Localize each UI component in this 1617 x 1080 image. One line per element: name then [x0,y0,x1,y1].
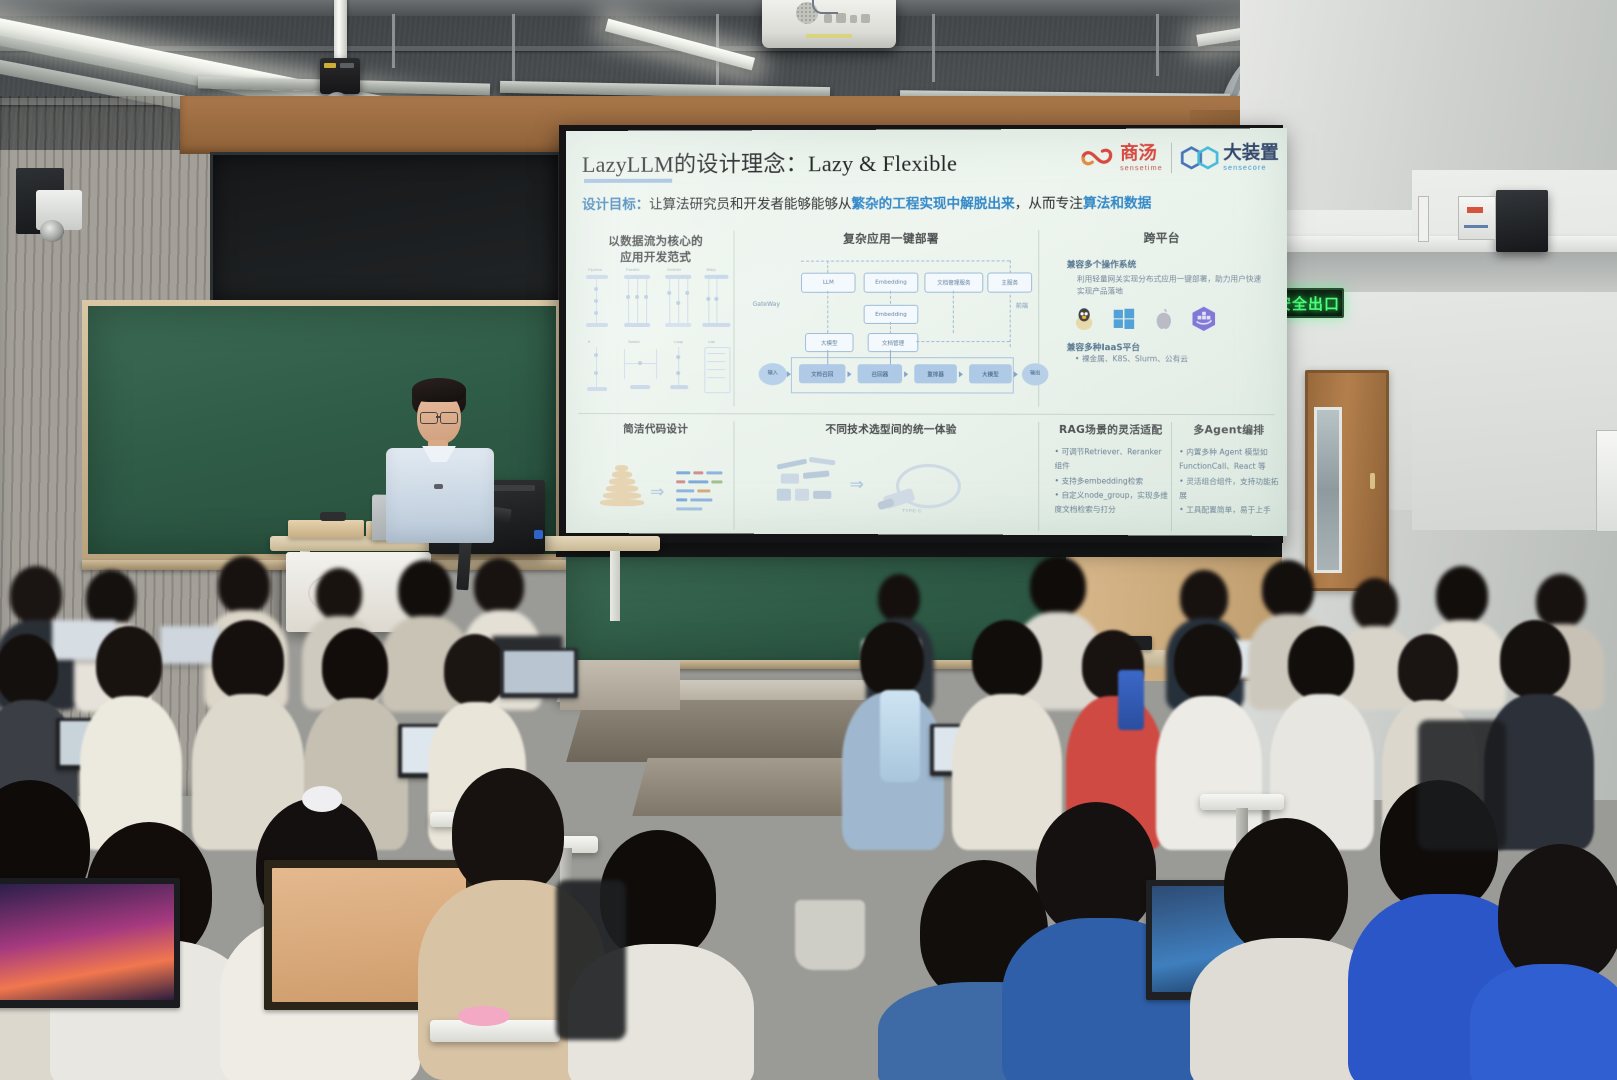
thumb-label: Warp [706,267,715,272]
panel-agent-heading: 多Agent编排 [1175,422,1283,437]
xp-bullet-2: • 裸金属、K8S、Slurm、公有云 [1067,353,1261,365]
agent-bullet: • 灵活组合组件，支持功能拓展 [1179,474,1283,503]
slide-logos: 商汤 sensetime 大装置 sensecore [1079,142,1279,173]
presenter-hair-top [412,378,466,402]
recessed-ceiling-strip [1262,252,1617,292]
xp-subheading-1: 兼容多个操作系统 [1067,258,1261,270]
ceiling-hanger [932,14,935,82]
simple-code-illustration: ⇒ [584,455,730,516]
waste-basket [795,900,865,970]
wall-electrical-panel [1596,430,1617,532]
agent-bullet: • 内置多种 Agent 模型如 FunctionCall、React 等 [1179,445,1283,474]
xp-body-1: 利用轻量网关实现分布式应用一键部署，助力用户快速实现产品落地 [1067,273,1261,297]
glasses-left-lens [420,412,438,424]
panel-rag: RAG场景的灵活适配 • 可调节Retriever、Reranker 组件 • … [1050,422,1172,532]
linux-tux-icon [1071,306,1098,332]
lapel-microphone [434,484,443,489]
rag-bullet-text: 可调节Retriever、Reranker 组件 [1055,447,1162,471]
panel-dataflow: 以数据流为核心的 应用开发范式 Pipeline Parallel Divert… [578,231,735,407]
agent-bullet: • 工具配置简单，易于上手 [1179,503,1283,518]
flow-end: 输出 [1022,363,1048,385]
deploy-node: Embedding [864,305,919,324]
xp-subheading-2: 兼容多种IaaS平台 [1067,341,1261,353]
rag-bullet: • 可调节Retriever、Reranker 组件 [1055,445,1171,474]
deploy-node: 主服务 [987,272,1032,292]
camera-mount-pole [334,0,347,62]
ceiling-hanger [392,14,395,68]
sensetime-en-label: sensetime [1120,165,1163,172]
xp-bullet-2-text: 裸金属、K8S、Slurm、公有云 [1082,354,1188,363]
goal-highlight-2: 算法和数据 [1083,195,1151,210]
wall-bracket [1418,196,1429,242]
goal-text-2: ，从而专注 [1015,196,1083,211]
glasses-right-lens [440,412,458,424]
water-bottle [880,690,920,782]
presenter-shirt [386,448,494,543]
panel-agent: 多Agent编排 • 内置多种 Agent 模型如 FunctionCall、R… [1175,422,1283,532]
panel-dataflow-heading-2: 应用开发范式 [578,249,733,265]
ceiling-hanger [1156,14,1159,76]
thumb-label: Loop [674,339,683,344]
infinity-icon [1079,147,1116,169]
backpack [556,880,626,1040]
blackboard-upper [210,152,561,303]
flow-node: 大模型 [969,364,1012,383]
thumb-label: If [588,339,590,344]
panel-unified-experience: 不同技术选型间的统一体验 ⇒ TYPE-C [745,421,1040,531]
os-icon-row [1067,306,1261,332]
agent-bullet-text: 工具配置简单，易于上手 [1186,505,1271,514]
cable-connector [534,530,543,539]
rag-bullet: • 自定义node_group，实现多维度文档检索与打分 [1055,488,1171,517]
thumb-label: Parallel [626,267,639,272]
panel-unified-heading: 不同技术选型间的统一体验 [745,421,1039,437]
panel-rag-heading: RAG场景的灵活适配 [1050,422,1171,437]
unified-experience-illustration: ⇒ TYPE-C [775,456,1008,519]
pink-object [458,1006,510,1026]
hair-scrunchie [302,786,342,812]
sensetime-logo: 商汤 sensetime [1079,144,1163,172]
panel-dataflow-heading-1: 以数据流为核心的 [578,233,733,249]
title-underline [584,179,672,183]
flow-node: 重排器 [914,364,957,383]
thumb-label: Diverter [667,267,681,272]
deploy-frontend-label: 前端 [1016,301,1028,310]
hexagon-pair-icon [1180,146,1219,170]
cardboard-box [288,520,364,538]
goal-highlight-1: 繁杂的工程实现中解脱出来 [852,196,1015,212]
windows-icon [1111,306,1138,332]
docker-icon [1190,306,1217,332]
deploy-diagram: GateWay 前端 LLM Embedding 文档管理服务 主服务 Embe… [745,252,1039,403]
slide-title: LazyLLM的设计理念：Lazy & Flexible [582,146,957,179]
presenter [390,378,490,543]
glasses-bridge [436,416,440,418]
remote-control [320,512,346,521]
flow-start: 输入 [759,363,787,385]
slide-goal-line: 设计目标：让算法研究员和开发者能够能够从繁杂的工程实现中解脱出来，从而专注算法和… [582,191,1151,213]
ceiling-projector [762,0,896,48]
sensetime-cn-label: 商汤 [1120,144,1163,162]
wall-control-plate [1458,196,1496,240]
blue-bottle [1118,670,1144,730]
door-handle[interactable] [1370,473,1375,489]
rag-bullet-text: 自定义node_group，实现多维度文档检索与打分 [1055,490,1168,514]
deploy-node: 文档管理服务 [924,273,983,293]
rag-bullet-text: 支持多embedding检索 [1061,476,1143,485]
lecture-hall-scene: 安全出口 LazyLLM的设计理念：Lazy & Flexible 设计目标：让… [0,0,1617,1080]
thumb-label: List [708,339,714,344]
deploy-node: 大模型 [805,333,853,352]
goal-label: 设计目标： [582,197,649,212]
deploy-node: Embedding [864,273,919,293]
wall-speaker [1496,190,1548,252]
goal-text-1: 让算法研究员和开发者能够能够从 [649,196,851,212]
projected-slide: LazyLLM的设计理念：Lazy & Flexible 设计目标：让算法研究员… [566,128,1287,536]
panel-deploy: 复杂应用一键部署 GateWay 前端 LLM Embedding 文档管理服务… [745,230,1040,407]
dome-camera-icon [40,220,64,242]
panel-simple-code: 简洁代码设计 ⇒ [578,421,735,530]
agent-bullet-text: 内置多种 Agent 模型如 FunctionCall、React 等 [1179,447,1268,471]
panel-xp-heading: 跨平台 [1050,230,1273,247]
sensecore-logo: 大装置 sensecore [1180,144,1279,172]
flow-node: 文档召回 [799,364,845,383]
sensecore-cn-label: 大装置 [1223,144,1278,162]
panel-simple-code-heading: 简洁代码设计 [578,421,733,436]
flow-node: 召回器 [858,364,903,383]
thumb-label: Pipeline [588,267,602,272]
backpack [1418,720,1506,850]
agent-bullet-text: 灵活组合组件，支持功能拓展 [1179,476,1278,500]
ceiling-hanger [512,14,515,86]
thumb-label: Switch [628,339,640,344]
ceiling-camera [320,58,360,94]
sensecore-en-label: sensecore [1223,164,1278,171]
typec-label: TYPE-C [902,508,922,513]
deploy-node: LLM [801,273,856,293]
logo-divider [1171,143,1172,173]
dataflow-thumbnails: Pipeline Parallel Diverter Warp [582,267,730,397]
deploy-node: 文档管理 [868,333,919,352]
rag-bullet: • 支持多embedding检索 [1055,474,1171,489]
panel-deploy-heading: 复杂应用一键部署 [745,230,1039,247]
apple-icon [1151,306,1178,332]
deploy-gateway-label: GateWay [753,301,780,308]
panel-cross-platform: 跨平台 兼容多个操作系统 利用轻量网关实现分布式应用一键部署，助力用户快速实现产… [1050,230,1273,407]
